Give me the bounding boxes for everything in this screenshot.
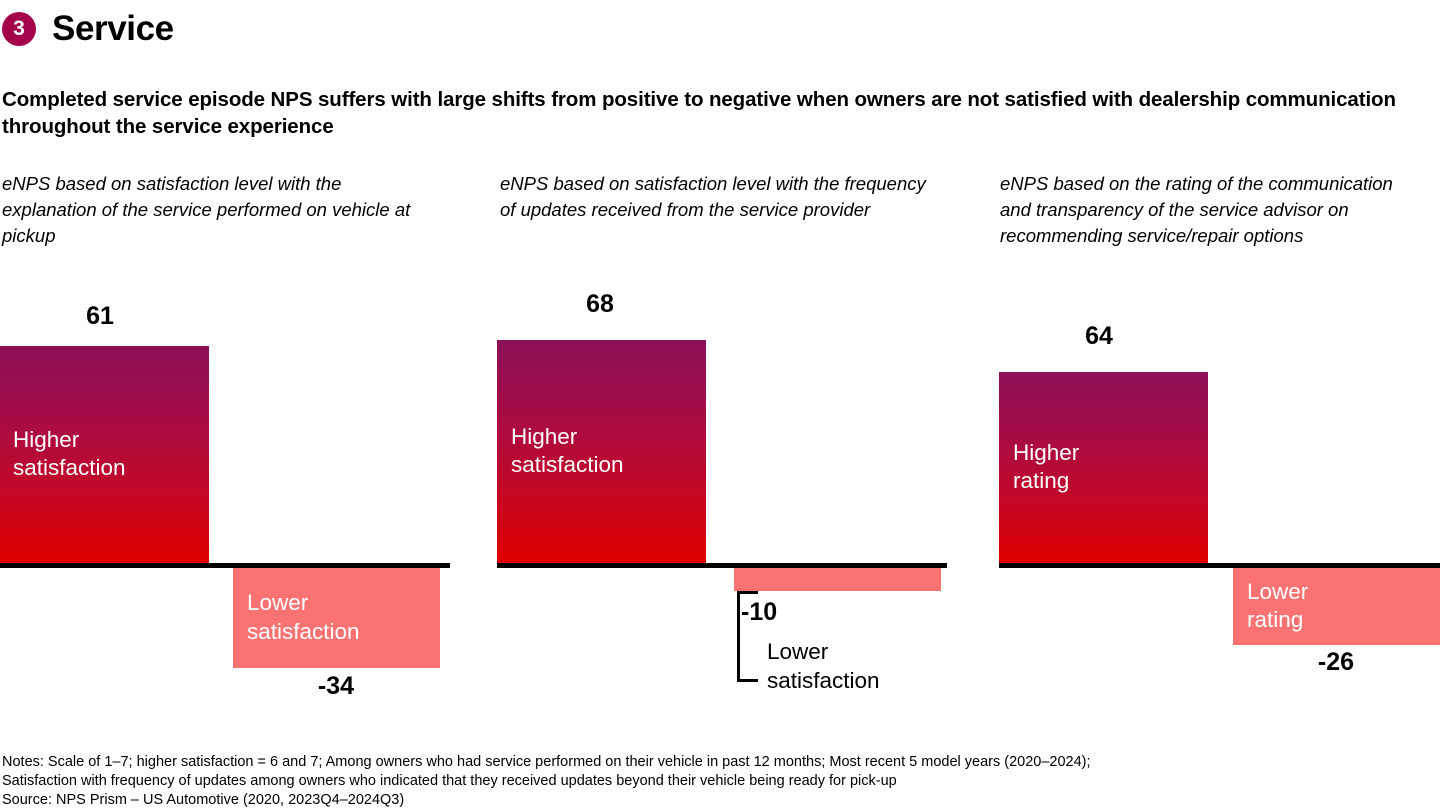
baseline-axis-3: [999, 563, 1440, 568]
footnotes: Notes: Scale of 1–7; higher satisfaction…: [2, 753, 1438, 810]
page-title: Service: [52, 9, 174, 49]
baseline-axis-1: [0, 563, 450, 568]
bar-positive-3: Higher rating: [999, 372, 1208, 563]
notes-line-2: Satisfaction with frequency of updates a…: [2, 772, 1438, 791]
bar-positive-label-2: Higher satisfaction: [511, 423, 624, 481]
notes-line-3: Source: NPS Prism – US Automotive (2020,…: [2, 791, 1438, 810]
positive-value-1: 61: [30, 302, 170, 331]
bar-negative-label-2: Lower satisfaction: [767, 638, 987, 696]
chart-panel-3: 64 Higher rating Lower rating -26: [999, 290, 1440, 720]
headline-text: Completed service episode NPS suffers wi…: [2, 86, 1412, 140]
section-number-badge: 3: [2, 12, 36, 46]
bar-positive-label-3: Higher rating: [1013, 439, 1079, 497]
chart-panel-2: 68 Higher satisfaction -10 Lower satisfa…: [497, 290, 967, 720]
charts-container: 61 Higher satisfaction Lower satisfactio…: [0, 290, 1440, 720]
positive-value-2: 68: [530, 290, 670, 319]
baseline-axis-2: [497, 563, 947, 568]
negative-value-1: -34: [266, 672, 406, 701]
notes-line-1: Notes: Scale of 1–7; higher satisfaction…: [2, 753, 1438, 772]
page-header: 3 Service: [0, 0, 1440, 58]
bar-positive-label-1: Higher satisfaction: [13, 426, 126, 484]
column-subtitle-3: eNPS based on the rating of the communic…: [1000, 171, 1400, 249]
chart-panel-1: 61 Higher satisfaction Lower satisfactio…: [0, 290, 470, 720]
bar-positive-2: Higher satisfaction: [497, 340, 706, 563]
positive-value-3: 64: [1029, 322, 1169, 351]
bar-negative-label-1: Lower satisfaction: [247, 589, 360, 647]
bar-negative-1: Lower satisfaction: [233, 568, 440, 668]
bar-positive-1: Higher satisfaction: [0, 346, 209, 563]
negative-value-3: -26: [1266, 648, 1406, 677]
column-subtitle-1: eNPS based on satisfaction level with th…: [2, 171, 432, 249]
callout-bracket-2: [737, 591, 758, 682]
bar-negative-2: [734, 568, 941, 591]
column-subtitle-2: eNPS based on satisfaction level with th…: [500, 171, 930, 223]
bar-negative-label-3: Lower rating: [1247, 578, 1308, 636]
bar-negative-3: Lower rating: [1233, 568, 1440, 645]
